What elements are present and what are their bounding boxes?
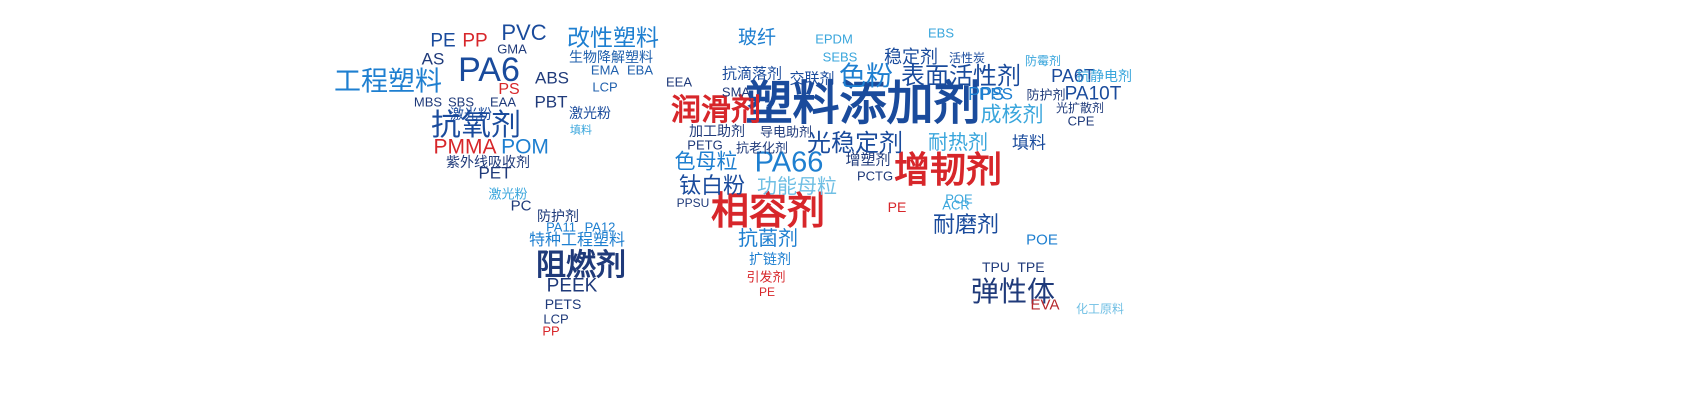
word-cloud-term[interactable]: 激光粉 <box>450 107 492 121</box>
word-cloud-term[interactable]: 色粉 <box>839 64 893 91</box>
word-cloud-term[interactable]: 生物降解塑料 <box>569 50 653 64</box>
word-cloud-term[interactable]: 抗滴落剂 <box>722 67 782 82</box>
word-cloud-term[interactable]: 抗静电剂 <box>1076 69 1132 83</box>
word-cloud-term[interactable]: 引发剂 <box>746 271 785 284</box>
word-cloud-term[interactable]: LCP <box>592 81 617 94</box>
word-cloud-term[interactable]: PBT <box>534 94 567 111</box>
word-cloud-term[interactable]: 成核剂 <box>981 105 1044 126</box>
word-cloud-term[interactable]: 功能母粒 <box>757 177 837 197</box>
word-cloud-term[interactable]: 耐热剂 <box>928 133 988 153</box>
word-cloud-term[interactable]: 相容剂 <box>711 193 825 231</box>
word-cloud-term[interactable]: 填料 <box>570 126 592 137</box>
word-cloud-term[interactable]: 增塑剂 <box>845 153 890 168</box>
word-cloud-term[interactable]: EAA <box>490 96 516 109</box>
word-cloud-term[interactable]: 加工助剂 <box>689 124 745 138</box>
word-cloud-term[interactable]: PP <box>542 325 559 338</box>
word-cloud-term[interactable]: MBS <box>414 96 442 109</box>
word-cloud-term[interactable]: EBA <box>627 64 653 77</box>
word-cloud-term[interactable]: PE <box>759 286 775 298</box>
word-cloud-term[interactable]: 耐磨剂 <box>933 214 999 236</box>
word-cloud-term[interactable]: 化工原料 <box>1076 303 1124 315</box>
word-cloud-term[interactable]: 激光粉 <box>488 188 527 201</box>
word-cloud-term[interactable]: 色母粒 <box>675 152 738 173</box>
word-cloud-term[interactable]: 光扩散剂 <box>1056 102 1104 114</box>
word-cloud-term[interactable]: EMA <box>591 64 619 77</box>
word-cloud-term[interactable]: PEEK <box>547 277 598 296</box>
word-cloud-term[interactable]: 抗老化剂 <box>736 142 788 155</box>
word-cloud-term[interactable]: PP <box>462 32 487 51</box>
word-cloud-term[interactable]: 特种工程塑料 <box>529 233 625 249</box>
word-cloud-term[interactable]: 填料 <box>1012 135 1046 152</box>
word-cloud-term[interactable]: PETG <box>687 139 722 152</box>
word-cloud-term[interactable]: 导电助剂 <box>760 126 812 139</box>
word-cloud-term[interactable]: PCTG <box>857 170 893 183</box>
word-cloud-term[interactable]: 活性炭 <box>949 52 985 64</box>
word-cloud-term[interactable]: 钛白粉 <box>679 175 745 197</box>
word-cloud-term[interactable]: EBS <box>928 27 954 40</box>
word-cloud-term[interactable]: 抗菌剂 <box>738 229 798 249</box>
word-cloud-term[interactable]: 防霉剂 <box>1025 55 1061 67</box>
word-cloud-term[interactable]: 防护剂 <box>537 209 579 223</box>
word-cloud-term[interactable]: 防护剂 <box>1026 89 1065 102</box>
word-cloud-term[interactable]: GMA <box>497 43 527 56</box>
word-cloud-term[interactable]: ABS <box>535 70 569 87</box>
word-cloud-canvas: 塑料添加剂相容剂增韧剂润滑剂阻燃剂工程塑料抗氧剂表面活性剂光稳定剂弹性体色粉PA… <box>0 0 1707 400</box>
word-cloud-term[interactable]: SEBS <box>823 51 858 64</box>
word-cloud-term[interactable]: 激光粉 <box>569 106 611 120</box>
word-cloud-term[interactable]: 玻纤 <box>738 29 776 48</box>
word-cloud-term[interactable]: 润滑剂 <box>671 96 761 126</box>
word-cloud-term[interactable]: 增韧剂 <box>894 152 1002 188</box>
word-cloud-term[interactable]: ACR <box>942 199 969 212</box>
word-cloud-term[interactable]: 稳定剂 <box>884 48 938 66</box>
word-cloud-term[interactable]: 扩链剂 <box>749 252 791 266</box>
word-cloud-term[interactable]: PPSU <box>677 197 710 209</box>
word-cloud-term[interactable]: PPS <box>979 86 1013 103</box>
word-cloud-term[interactable]: PE <box>888 200 907 214</box>
word-cloud-term[interactable]: POE <box>1026 233 1058 248</box>
word-cloud-term[interactable]: 交联剂 <box>789 72 834 87</box>
word-cloud-term[interactable]: TPE <box>1017 260 1044 274</box>
word-cloud-term[interactable]: 工程塑料 <box>334 69 442 96</box>
word-cloud-term[interactable]: AS <box>422 51 445 68</box>
word-cloud-term[interactable]: PETS <box>545 297 582 311</box>
word-cloud-term[interactable]: CPE <box>1068 115 1095 128</box>
word-cloud-term[interactable]: EEA <box>666 76 692 89</box>
word-cloud-term[interactable]: EVA <box>1031 298 1060 313</box>
word-cloud-term[interactable]: PE <box>430 32 455 51</box>
word-cloud-term[interactable]: 改性塑料 <box>567 27 659 50</box>
word-cloud-term[interactable]: 紫外线吸收剂 <box>446 155 530 169</box>
word-cloud-term[interactable]: EPDM <box>815 33 853 46</box>
word-cloud-term[interactable]: SMA <box>722 86 750 99</box>
word-cloud-term[interactable]: TPU <box>982 260 1010 274</box>
